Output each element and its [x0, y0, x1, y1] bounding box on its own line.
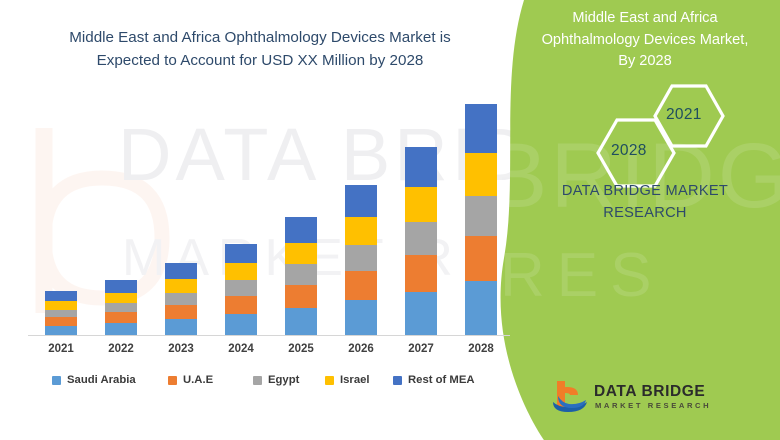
legend-item-israel[interactable]: Israel [325, 374, 370, 386]
bar-segment-2028-saudi-arabia[interactable] [465, 281, 497, 335]
x-tick-2025: 2025 [271, 343, 331, 355]
hexagon-shapes-icon [575, 78, 775, 188]
legend-item-rest-of-mea[interactable]: Rest of MEA [393, 374, 475, 386]
legend-label: Rest of MEA [408, 374, 475, 386]
x-tick-2027: 2027 [391, 343, 451, 355]
bar-segment-2026-israel[interactable] [345, 217, 377, 244]
x-tick-2022: 2022 [91, 343, 151, 355]
bar-segment-2025-egypt[interactable] [285, 264, 317, 285]
bar-segment-2026-u-a-e[interactable] [345, 271, 377, 300]
chart-plot-area [0, 90, 512, 340]
legend-item-saudi-arabia[interactable]: Saudi Arabia [52, 374, 136, 386]
bar-segment-2027-israel[interactable] [405, 187, 437, 222]
x-tick-2028: 2028 [451, 343, 511, 355]
bar-2028[interactable] [465, 104, 497, 335]
bar-segment-2023-saudi-arabia[interactable] [165, 319, 197, 335]
bar-segment-2027-saudi-arabia[interactable] [405, 292, 437, 335]
legend-swatch-icon [253, 376, 262, 385]
bar-segment-2021-rest-of-mea[interactable] [45, 291, 77, 301]
bar-segment-2024-saudi-arabia[interactable] [225, 314, 257, 335]
data-bridge-logo: DATA BRIDGE MARKET RESEARCH [548, 378, 758, 422]
x-axis-line [28, 335, 510, 336]
legend-label: Saudi Arabia [67, 374, 136, 386]
panel-brand-line1: DATA BRIDGE MARKET [562, 183, 728, 199]
bar-segment-2022-u-a-e[interactable] [105, 312, 137, 322]
panel-title: Middle East and Africa Ophthalmology Dev… [520, 8, 770, 73]
bar-segment-2026-saudi-arabia[interactable] [345, 300, 377, 335]
legend-label: Israel [340, 374, 370, 386]
bar-segment-2023-israel[interactable] [165, 279, 197, 292]
panel-brand-line2: RESEARCH [603, 205, 687, 221]
bar-segment-2024-u-a-e[interactable] [225, 296, 257, 314]
page-title-line1: Middle East and Africa Ophthalmology Dev… [69, 29, 451, 46]
bar-segment-2026-egypt[interactable] [345, 245, 377, 271]
page-title-line2: Expected to Account for USD XX Million b… [97, 52, 424, 69]
bar-2021[interactable] [45, 291, 77, 335]
bar-2023[interactable] [165, 263, 197, 335]
legend-swatch-icon [168, 376, 177, 385]
db-monogram-icon [548, 378, 592, 418]
infographic-canvas: DATA BRIDGE MARKET RESEARCH BRIDGE RES M… [0, 0, 780, 440]
logo-name: DATA BRIDGE [594, 383, 705, 401]
legend-swatch-icon [393, 376, 402, 385]
bar-segment-2021-egypt[interactable] [45, 310, 77, 318]
panel-title-line1: Middle East and Africa [572, 10, 717, 26]
panel-brand-text: DATA BRIDGE MARKET RESEARCH [520, 180, 770, 224]
hexagon-group: 2021 2028 [575, 78, 775, 188]
panel-title-line2: Ophthalmology Devices Market, [542, 32, 749, 48]
legend-swatch-icon [325, 376, 334, 385]
bar-segment-2022-rest-of-mea[interactable] [105, 280, 137, 292]
panel-title-line3: By 2028 [618, 53, 672, 69]
logo-tagline: MARKET RESEARCH [595, 401, 711, 410]
legend-label: Egypt [268, 374, 299, 386]
bar-segment-2021-israel[interactable] [45, 301, 77, 309]
bar-2027[interactable] [405, 147, 437, 335]
bar-segment-2025-saudi-arabia[interactable] [285, 308, 317, 335]
bar-2024[interactable] [225, 244, 257, 335]
bar-segment-2023-rest-of-mea[interactable] [165, 263, 197, 279]
bar-segment-2021-u-a-e[interactable] [45, 317, 77, 325]
bar-2022[interactable] [105, 280, 137, 335]
bar-segment-2023-u-a-e[interactable] [165, 305, 197, 319]
x-tick-2026: 2026 [331, 343, 391, 355]
bar-segment-2027-egypt[interactable] [405, 222, 437, 255]
legend-swatch-icon [52, 376, 61, 385]
chart-legend: Saudi ArabiaU.A.EEgyptIsraelRest of MEA [0, 374, 512, 396]
bar-segment-2024-egypt[interactable] [225, 280, 257, 296]
bar-segment-2026-rest-of-mea[interactable] [345, 185, 377, 217]
bar-segment-2023-egypt[interactable] [165, 293, 197, 305]
bar-segment-2025-u-a-e[interactable] [285, 285, 317, 308]
page-title: Middle East and Africa Ophthalmology Dev… [34, 26, 486, 72]
bar-segment-2028-u-a-e[interactable] [465, 236, 497, 281]
bar-segment-2022-israel[interactable] [105, 293, 137, 303]
bar-segment-2027-u-a-e[interactable] [405, 255, 437, 292]
legend-label: U.A.E [183, 374, 213, 386]
x-axis-tick-labels: 20212022202320242025202620272028 [0, 343, 512, 363]
bar-segment-2027-rest-of-mea[interactable] [405, 147, 437, 188]
x-tick-2023: 2023 [151, 343, 211, 355]
bar-segment-2024-israel[interactable] [225, 263, 257, 280]
bar-segment-2028-israel[interactable] [465, 153, 497, 195]
legend-item-egypt[interactable]: Egypt [253, 374, 299, 386]
bar-2025[interactable] [285, 217, 317, 335]
bar-segment-2024-rest-of-mea[interactable] [225, 244, 257, 264]
bar-2026[interactable] [345, 185, 377, 335]
bar-segment-2021-saudi-arabia[interactable] [45, 326, 77, 335]
x-tick-2024: 2024 [211, 343, 271, 355]
bar-segment-2022-egypt[interactable] [105, 303, 137, 312]
hexagon-label-2021: 2021 [666, 106, 702, 124]
bar-segment-2028-egypt[interactable] [465, 196, 497, 237]
hexagon-label-2028: 2028 [611, 142, 647, 160]
bar-segment-2028-rest-of-mea[interactable] [465, 104, 497, 153]
bar-segment-2022-saudi-arabia[interactable] [105, 323, 137, 335]
legend-item-u-a-e[interactable]: U.A.E [168, 374, 213, 386]
bar-segment-2025-rest-of-mea[interactable] [285, 217, 317, 242]
x-tick-2021: 2021 [31, 343, 91, 355]
bar-segment-2025-israel[interactable] [285, 243, 317, 265]
